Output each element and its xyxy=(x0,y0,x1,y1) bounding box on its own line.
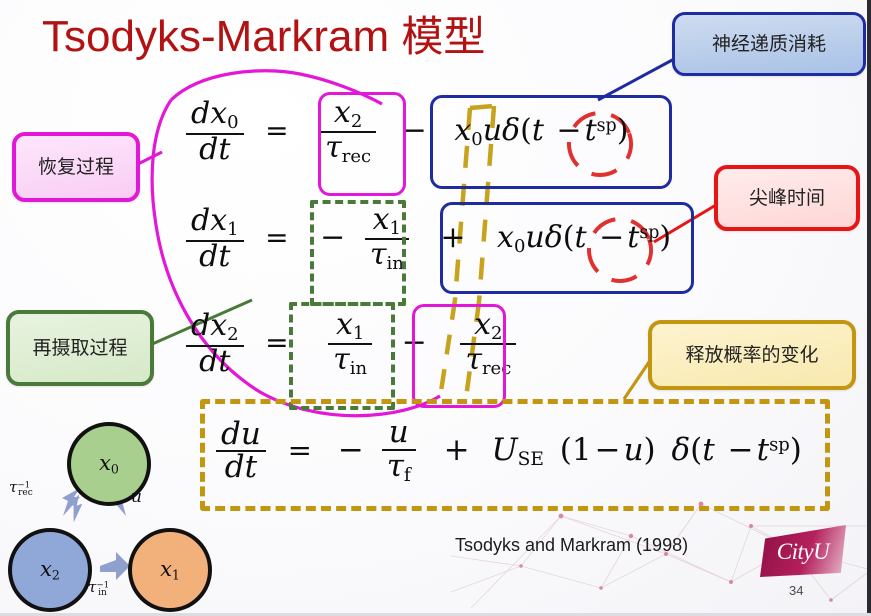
eq2-sign: − xyxy=(310,220,349,255)
callout-neurotransmitter-depletion[interactable]: 神经递质消耗 xyxy=(672,12,866,76)
eq3-term-x2-over-taurec: x2 τrec xyxy=(460,310,516,379)
eq1-lhs: dx0 dt xyxy=(186,99,244,165)
eq3-lhs: dx2 dt xyxy=(186,311,244,377)
eq1-equals: = xyxy=(253,114,300,147)
callout-release-label: 释放概率的变化 xyxy=(685,344,818,367)
node-x1[interactable]: x1 xyxy=(128,528,212,612)
callout-spike-time-label: 尖峰时间 xyxy=(749,187,825,210)
eq4-term-use: USE (1−u) δ(t −tsp) xyxy=(491,432,801,468)
label-tau-rec-inverse: τ−1rec xyxy=(9,478,33,498)
node-x1-label: x1 xyxy=(160,557,180,583)
eq4-lhs: du dt xyxy=(216,419,266,484)
node-x2-label: x2 xyxy=(40,557,60,583)
citation: Tsodyks and Markram (1998) xyxy=(455,535,688,556)
eq4-sign: − xyxy=(334,432,368,468)
eq4-equals: = xyxy=(276,433,324,467)
callout-neurotransmitter-label: 神经递质消耗 xyxy=(712,33,826,56)
eq4-term-u-over-tauf: u τf xyxy=(382,417,416,486)
eq2-plus: + xyxy=(418,220,477,255)
callout-release-probability[interactable]: 释放概率的变化 xyxy=(648,320,856,390)
eq2-lhs: dx1 dt xyxy=(186,206,244,272)
callout-recovery-process[interactable]: 恢复过程 xyxy=(12,132,140,202)
annotation-strokes xyxy=(0,0,871,616)
equation-dx2: dx2 dt = x1 τin − x2 τrec xyxy=(186,310,516,379)
cityu-logo-text: CityU xyxy=(777,539,829,565)
eq3-minus: − xyxy=(382,325,439,360)
equation-du: du dt = − u τf + USE (1−u) δ(t −tsp) xyxy=(216,417,802,486)
callout-recovery-label: 恢复过程 xyxy=(38,156,114,179)
label-u: u xyxy=(131,487,142,507)
eq2-term-spike: x0uδ(t −tsp) xyxy=(497,220,671,255)
callout-reuptake-process[interactable]: 再摄取过程 xyxy=(6,310,154,386)
label-tau-in-inverse: τ−1in xyxy=(88,578,107,598)
eq3-term-x1-over-tauin: x1 τin xyxy=(328,310,372,379)
node-x2[interactable]: x2 xyxy=(8,528,92,612)
eq1-minus: − xyxy=(386,113,437,148)
equation-dx0: dx0 dt = x2 τrec − x0uδ(t −tsp) xyxy=(186,98,628,167)
slide-canvas: Tsodyks-Markram 模型 xyxy=(0,0,871,616)
callout-reuptake-label: 再摄取过程 xyxy=(32,337,127,360)
eq2-equals: = xyxy=(253,221,300,254)
node-x0-label: x0 xyxy=(99,451,119,477)
page-number: 34 xyxy=(789,583,803,598)
eq2-term-x1-over-tauin: x1 τin xyxy=(365,205,409,274)
eq4-plus: + xyxy=(426,432,482,468)
callout-spike-time[interactable]: 尖峰时间 xyxy=(714,165,860,231)
eq1-term-x2-over-taurec: x2 τrec xyxy=(320,98,376,167)
frame-edge-right xyxy=(867,0,871,616)
equation-dx1: dx1 dt = − x1 τin + x0uδ(t −tsp) xyxy=(186,205,671,274)
eq3-equals: = xyxy=(253,326,300,359)
eq1-term-spike: x0uδ(t −tsp) xyxy=(454,113,628,148)
